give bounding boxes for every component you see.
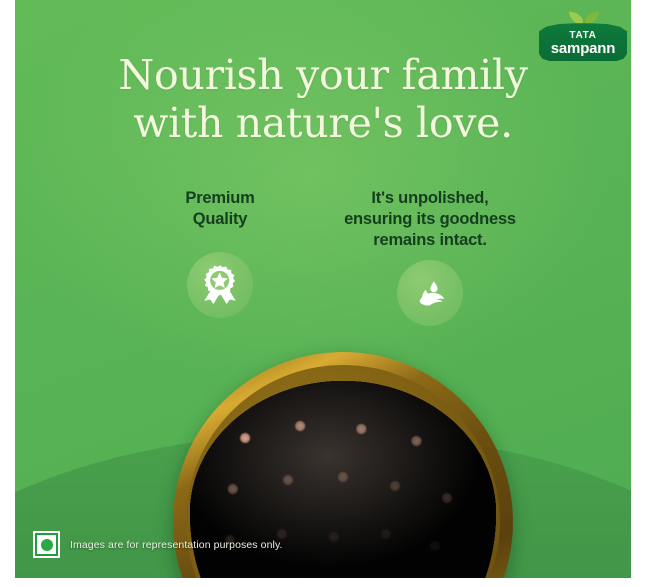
ad-creative-canvas: TATA sampann Nourish your family with na…	[15, 0, 631, 578]
feature-unpolished-line-2: ensuring its goodness	[315, 209, 545, 230]
feature-premium-quality-line-1: Premium	[105, 188, 335, 209]
feature-unpolished-line-3: remains intact.	[315, 230, 545, 251]
feature-premium-quality-label: Premium Quality	[105, 188, 335, 230]
leaf-droplet-icon	[409, 272, 451, 314]
headline-line-2: with nature's love.	[15, 100, 631, 148]
feature-premium-quality-icon-circle	[187, 252, 253, 318]
vegetarian-mark-icon	[33, 531, 60, 558]
vegetarian-mark-border	[35, 533, 58, 556]
feature-list: Premium Quality It's unpolished,	[15, 188, 631, 348]
advertisement-frame: TATA sampann Nourish your family with na…	[0, 0, 648, 587]
award-rosette-icon	[199, 264, 241, 306]
feature-unpolished: It's unpolished, ensuring its goodness r…	[315, 188, 545, 326]
feature-unpolished-label: It's unpolished, ensuring its goodness r…	[315, 188, 545, 251]
feature-unpolished-icon-circle	[397, 260, 463, 326]
footer-disclaimer: Images are for representation purposes o…	[33, 531, 283, 558]
feature-premium-quality-line-2: Quality	[105, 209, 335, 230]
disclaimer-text: Images are for representation purposes o…	[70, 539, 283, 551]
feature-premium-quality: Premium Quality	[105, 188, 335, 318]
vegetarian-mark-dot	[41, 539, 53, 551]
page-title: Nourish your family with nature's love.	[15, 52, 631, 147]
feature-unpolished-line-1: It's unpolished,	[315, 188, 545, 209]
headline-line-1: Nourish your family	[15, 52, 631, 100]
